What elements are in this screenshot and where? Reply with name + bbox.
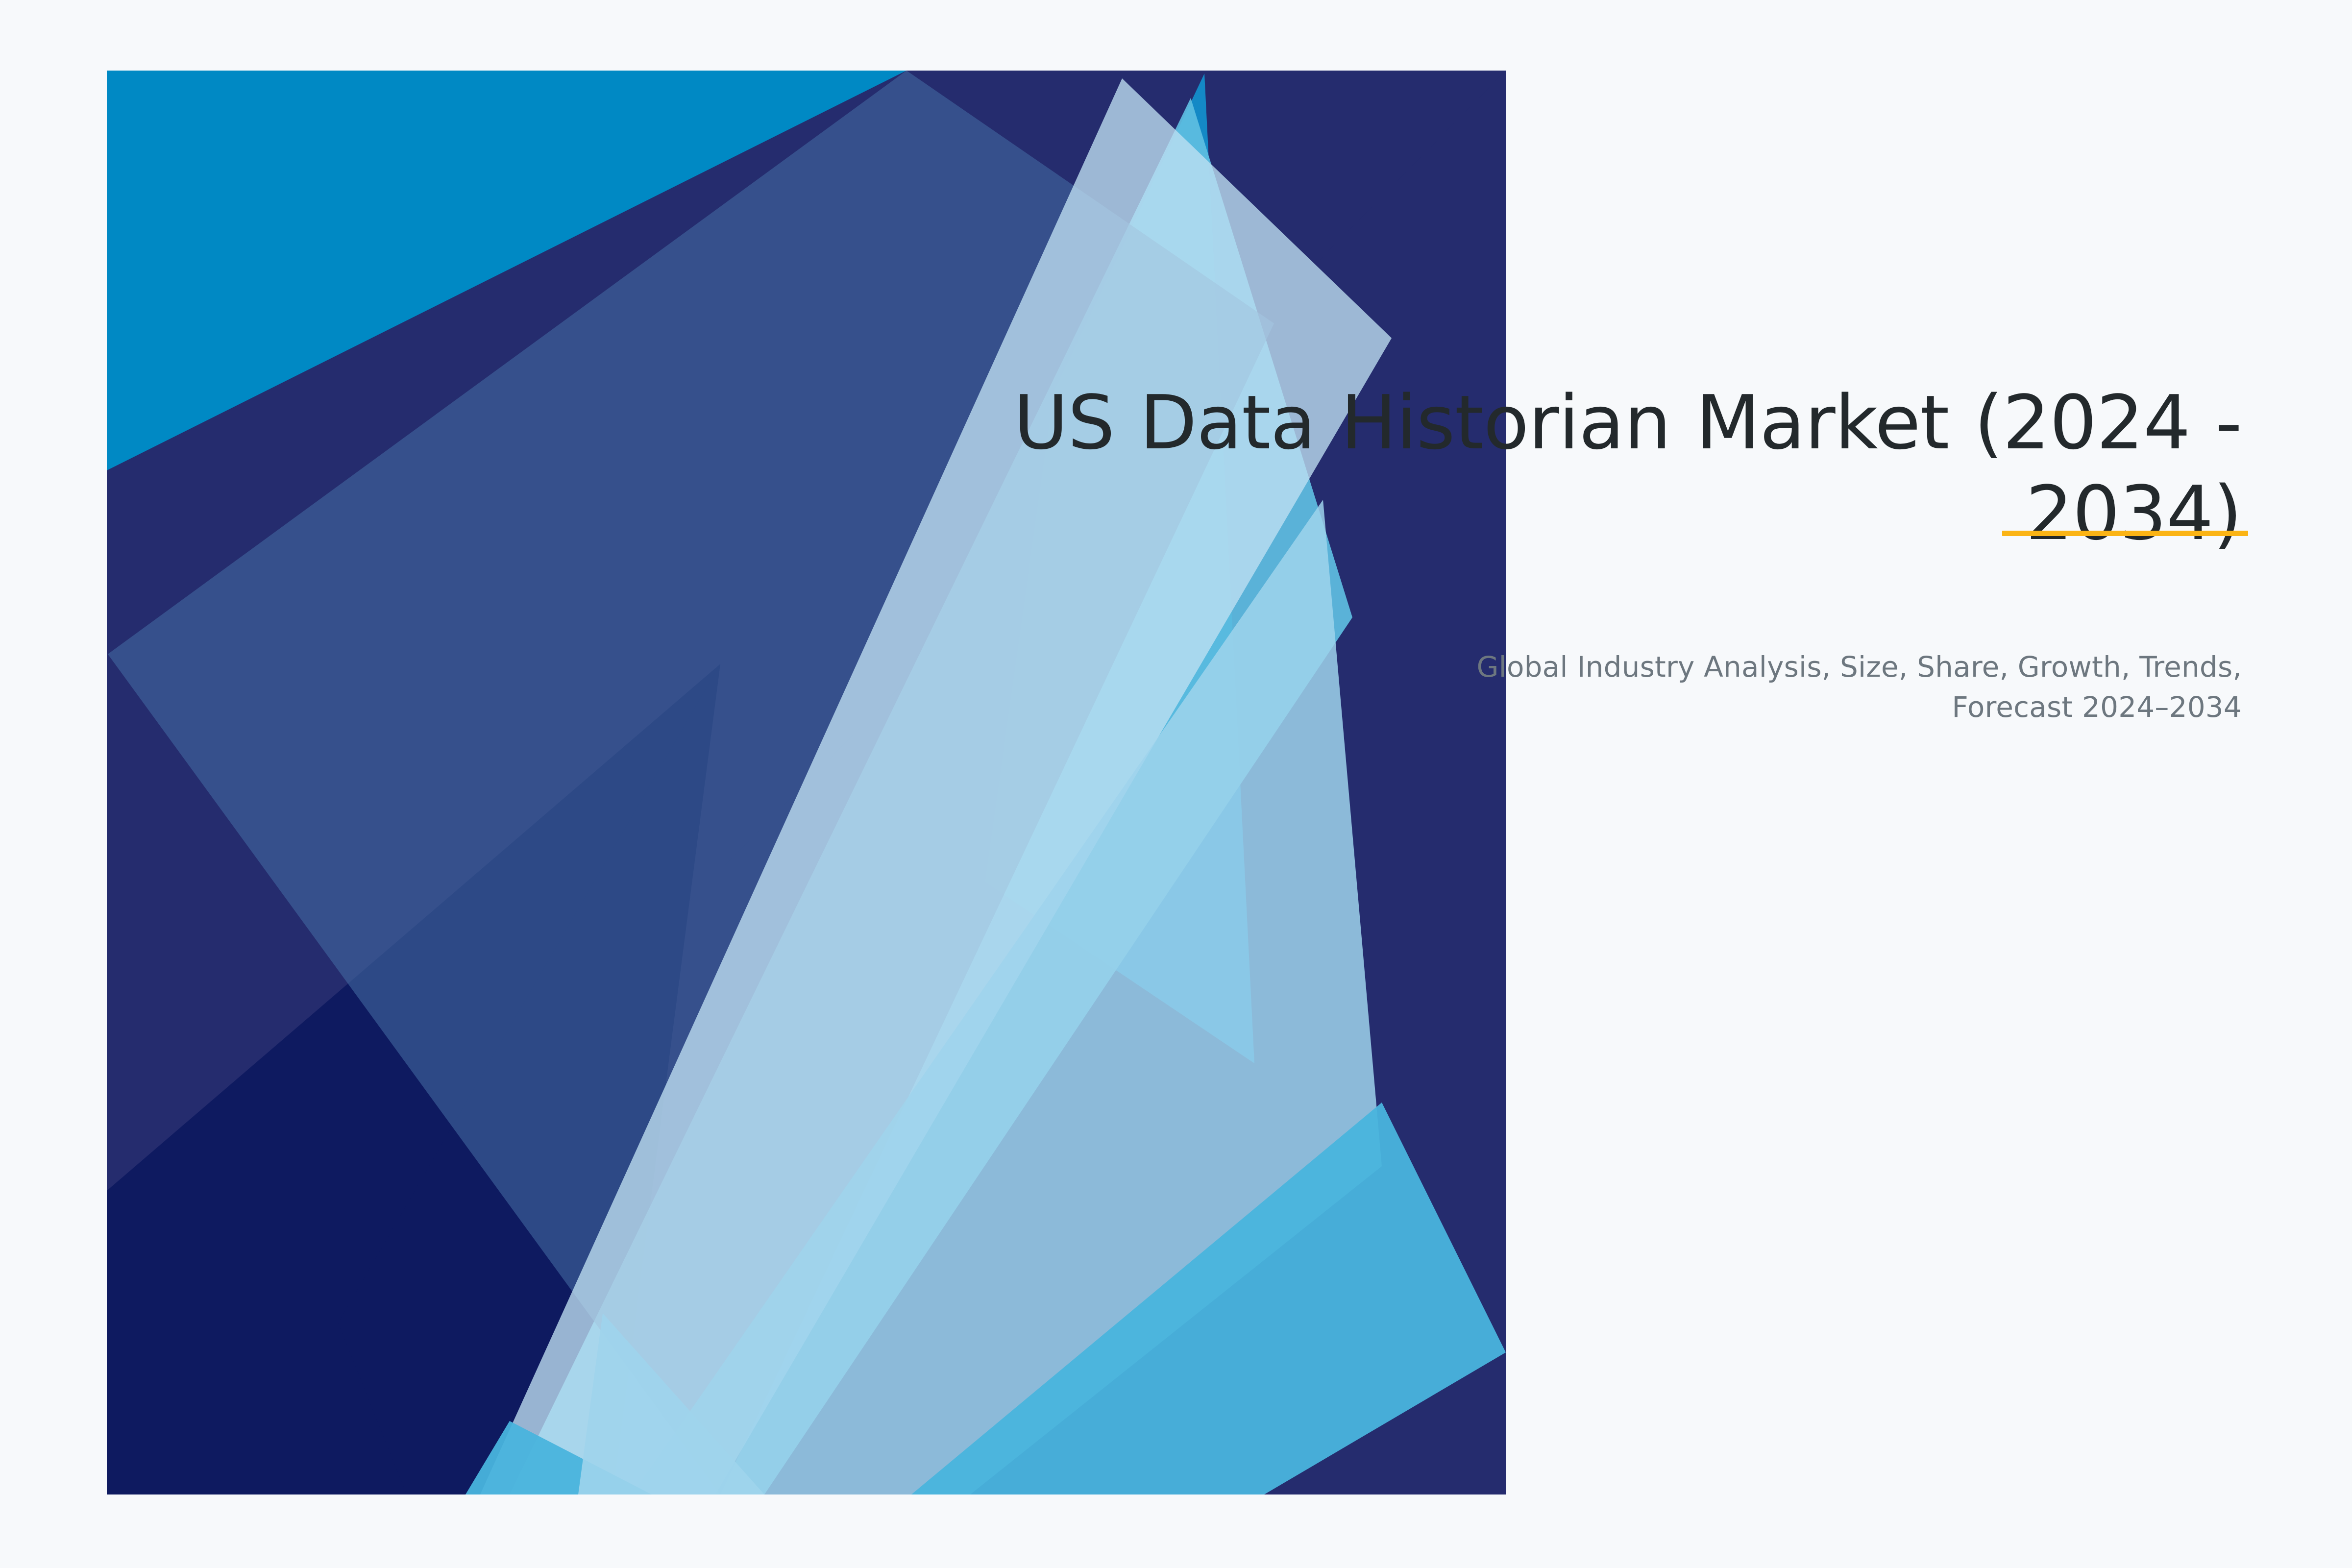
shape-deep-navy-lower (107, 664, 720, 1494)
title-accent-bar (2002, 531, 2248, 536)
shape-deep-navy-spike (338, 664, 720, 1494)
subtitle-block: Global Industry Analysis, Size, Share, G… (1470, 647, 2242, 728)
shape-sky-notch (465, 1421, 652, 1494)
abstract-polygon-graphic (0, 0, 2352, 1568)
shape-cyan-sliver (985, 73, 1254, 1063)
shape-slate-blue-quad (108, 71, 1274, 1494)
shape-pale-wedge-bottom (578, 1313, 764, 1494)
shape-sky-accent-bottom (911, 1102, 1506, 1494)
shape-navy-main (107, 71, 1506, 1494)
cover-slide: US Data Historian Market (2024 - 2034) G… (0, 0, 2352, 1568)
shape-sky-blue-band (510, 98, 1352, 1494)
shape-pale-blue-sweep (480, 78, 1392, 1494)
shape-cyan-base (107, 71, 1506, 1494)
shape-navy-wedge (107, 71, 1506, 1494)
shape-light-blue-fan (632, 500, 1382, 1494)
page-subtitle: Global Industry Analysis, Size, Share, G… (1470, 647, 2242, 728)
